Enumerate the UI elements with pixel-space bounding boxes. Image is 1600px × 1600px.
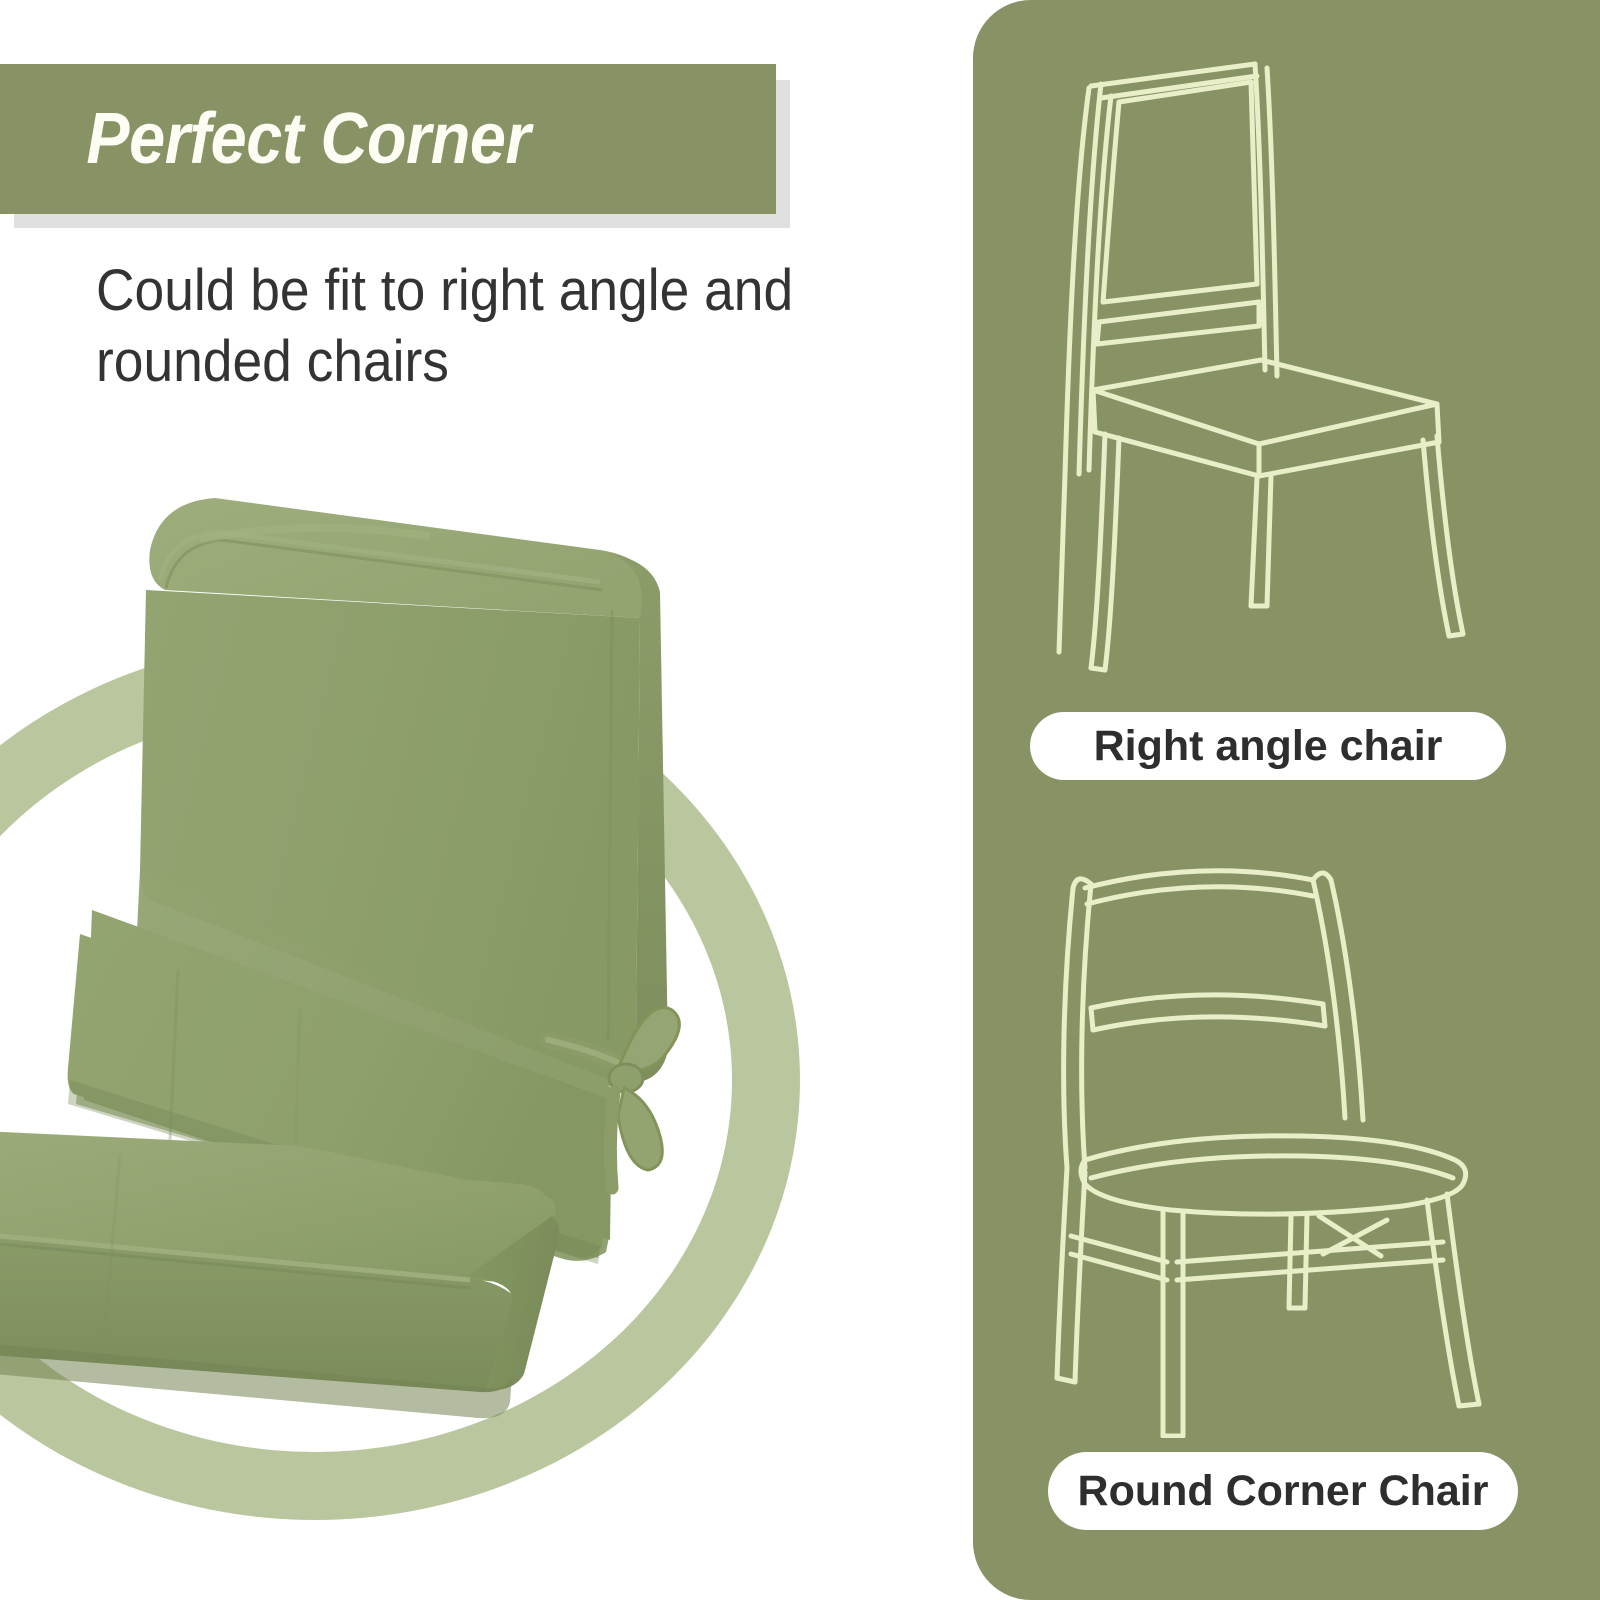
- title-banner: Perfect Corner: [0, 64, 776, 214]
- label-right-angle-chair[interactable]: Right angle chair: [1030, 712, 1506, 780]
- round-corner-chair-illustration: [1051, 838, 1511, 1438]
- chair-types-panel: [973, 0, 1600, 1600]
- page-title: Perfect Corner: [0, 98, 530, 180]
- label-round-corner-chair[interactable]: Round Corner Chair: [1048, 1452, 1518, 1530]
- infographic-canvas: Perfect Corner Could be fit to right ang…: [0, 0, 1600, 1600]
- page-subtitle: Could be fit to right angle and rounded …: [96, 256, 860, 398]
- right-angle-chair-illustration: [1045, 40, 1515, 690]
- product-cushion-image: [0, 440, 720, 1600]
- label-right-angle-chair-text: Right angle chair: [1094, 722, 1443, 771]
- label-round-corner-chair-text: Round Corner Chair: [1078, 1467, 1489, 1516]
